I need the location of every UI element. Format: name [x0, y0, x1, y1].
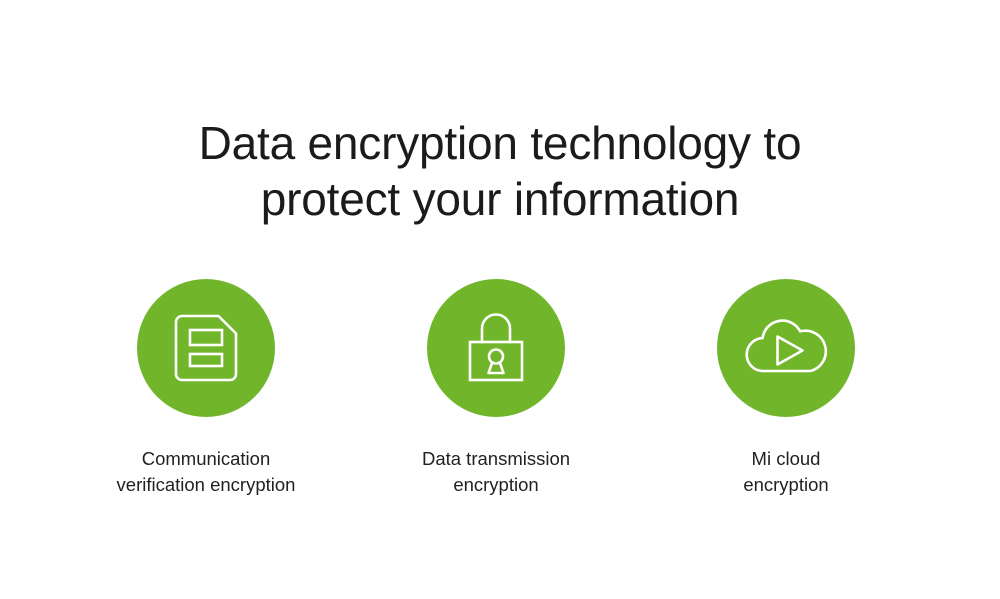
page-title: Data encryption technology to protect yo…	[0, 115, 1000, 227]
icon-badge-communication	[137, 279, 275, 417]
feature-label-mi-cloud: Mi cloud encryption	[743, 446, 828, 498]
icon-badge-mi-cloud	[717, 279, 855, 417]
feature-label-communication: Communication verification encryption	[117, 446, 296, 498]
feature-item-data-transmission-encryption[interactable]: Data transmission encryption	[366, 279, 626, 498]
padlock-icon	[465, 312, 527, 384]
feature-list: Communication verification encryption Da…	[0, 279, 1000, 519]
slide-root: Data encryption technology to protect yo…	[0, 0, 1000, 599]
cloud-play-icon	[743, 317, 829, 379]
feature-label-transmission: Data transmission encryption	[422, 446, 570, 498]
sim-card-icon	[173, 313, 239, 383]
icon-badge-transmission	[427, 279, 565, 417]
feature-item-mi-cloud-encryption[interactable]: Mi cloud encryption	[656, 279, 916, 498]
feature-item-communication-verification-encryption[interactable]: Communication verification encryption	[76, 279, 336, 498]
